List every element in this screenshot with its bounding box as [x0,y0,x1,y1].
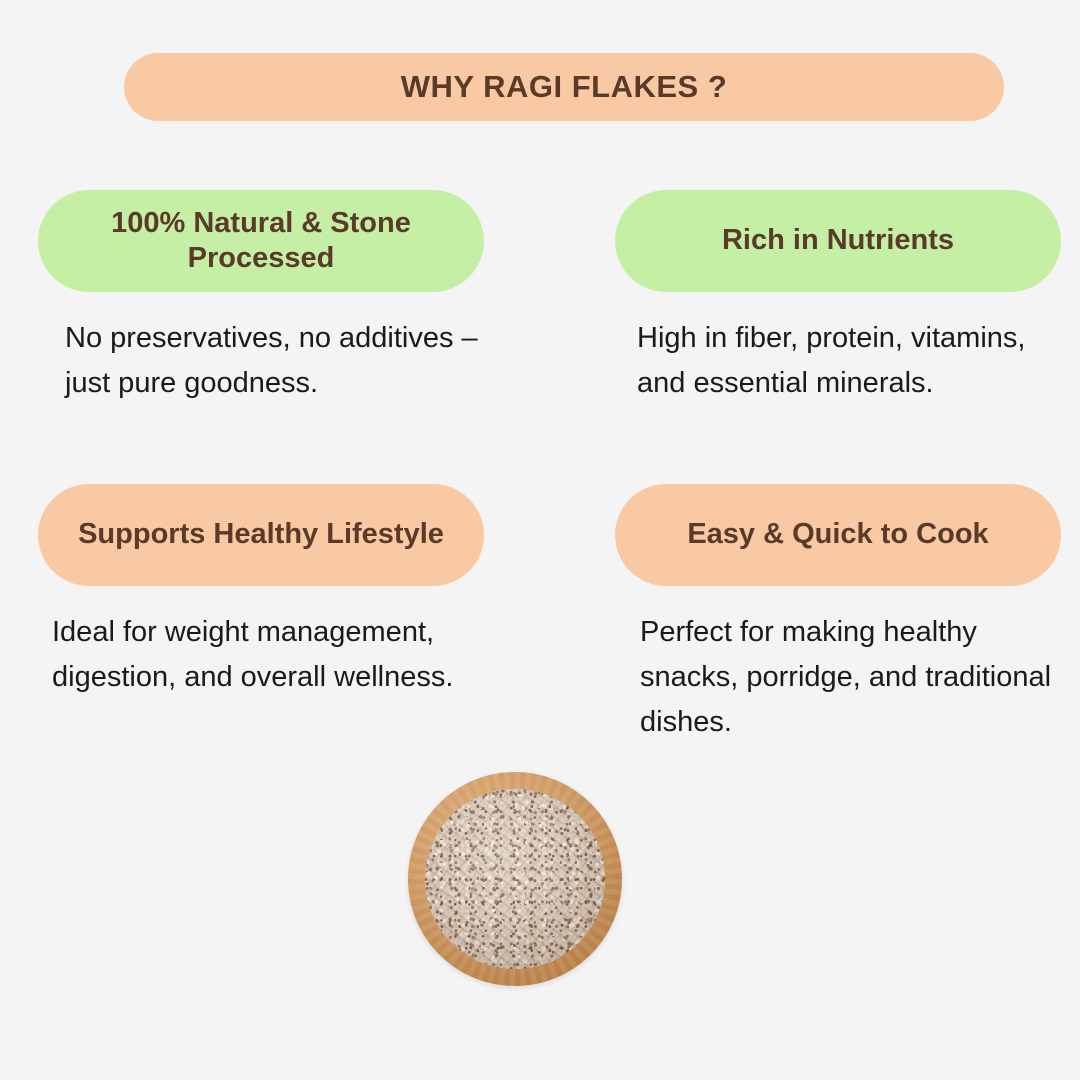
feature-description: High in fiber, protein, vitamins, and es… [637,316,1077,406]
feature-block-supports-healthy-lifestyle: Supports Healthy Lifestyle Ideal for wei… [38,484,484,700]
infographic-root: WHY RAGI FLAKES ? 100% Natural & Stone P… [0,0,1080,1080]
ragi-flakes-bowl-image [408,772,622,986]
bowl-inner-shading [425,789,605,969]
feature-description: Ideal for weight management, digestion, … [52,610,482,700]
feature-block-rich-in-nutrients: Rich in Nutrients High in fiber, protein… [615,190,1061,406]
feature-heading-pill: Easy & Quick to Cook [615,484,1061,586]
feature-block-natural-stone-processed: 100% Natural & Stone Processed No preser… [38,190,484,406]
page-title: WHY RAGI FLAKES ? [401,70,728,104]
feature-description: Perfect for making healthy snacks, porri… [640,610,1080,745]
feature-block-easy-quick-to-cook: Easy & Quick to Cook Perfect for making … [615,484,1061,745]
feature-heading-label: Rich in Nutrients [722,223,954,258]
feature-heading-label: Easy & Quick to Cook [687,517,988,552]
feature-description: No preservatives, no additives – just pu… [65,316,495,406]
feature-heading-pill: Supports Healthy Lifestyle [38,484,484,586]
bowl-interior [425,789,605,969]
feature-heading-label: Supports Healthy Lifestyle [78,517,444,552]
feature-heading-pill: Rich in Nutrients [615,190,1061,292]
page-title-banner: WHY RAGI FLAKES ? [124,53,1004,121]
feature-heading-pill: 100% Natural & Stone Processed [38,190,484,292]
feature-heading-label: 100% Natural & Stone Processed [64,206,458,277]
